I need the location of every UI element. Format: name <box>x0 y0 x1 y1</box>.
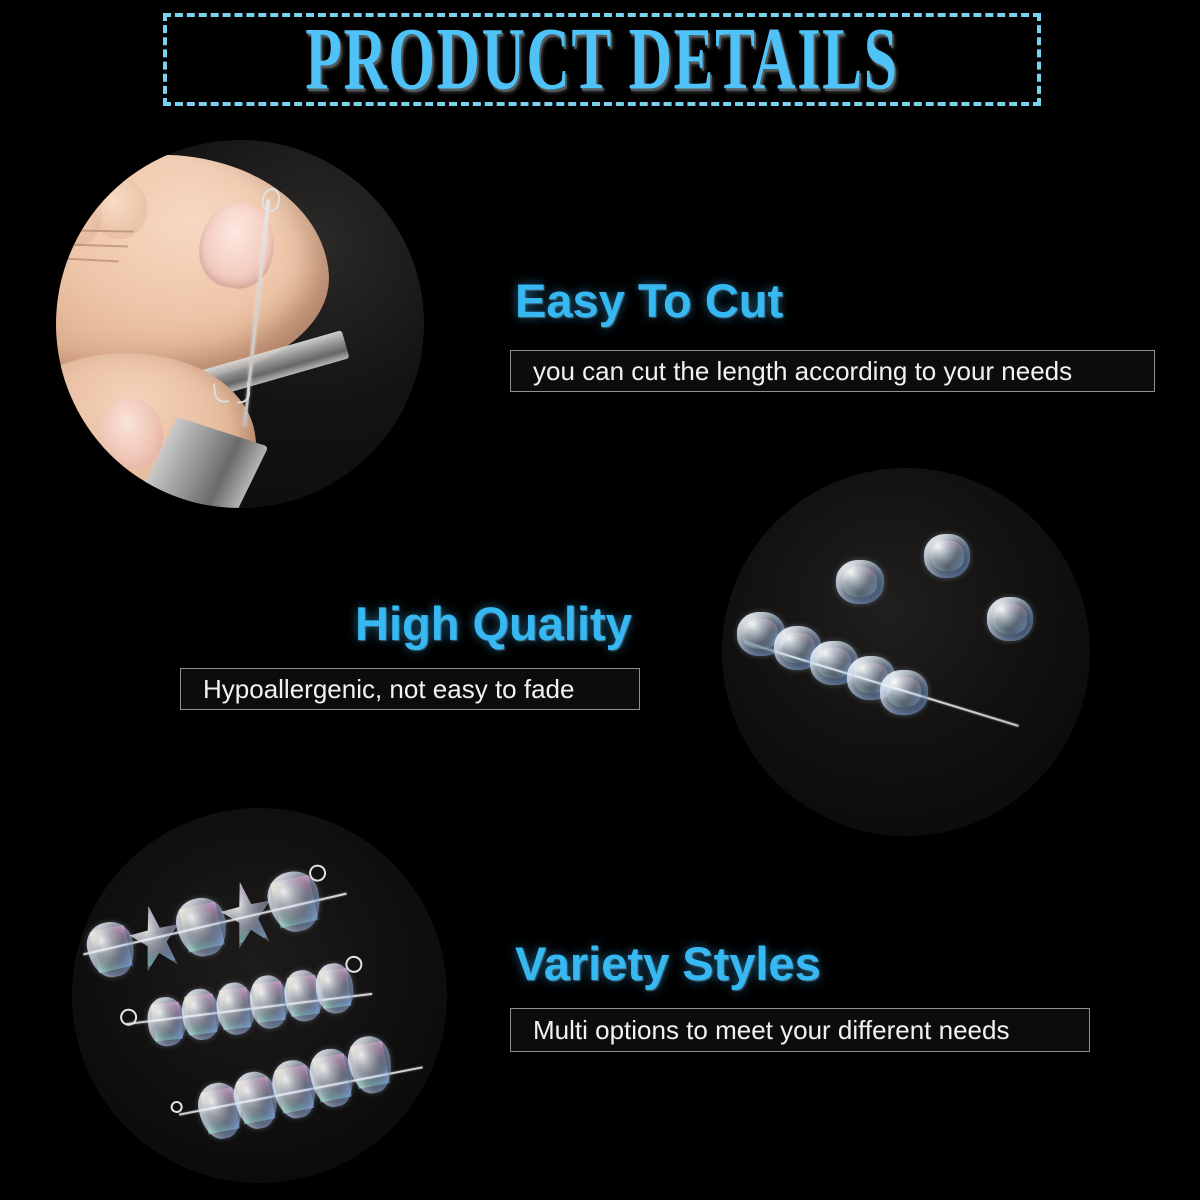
feature-caption-box-variety-styles: Multi options to meet your different nee… <box>510 1008 1090 1052</box>
feature-caption-text: Hypoallergenic, not easy to fade <box>203 676 574 702</box>
feature-caption-text: you can cut the length according to your… <box>533 358 1072 384</box>
bead-strand-rondelle <box>122 962 375 1055</box>
feature-caption-text: Multi options to meet your different nee… <box>533 1017 1009 1043</box>
page-title: PRODUCT DETAILS <box>305 15 899 104</box>
crystal-bead <box>987 597 1033 641</box>
product-details-infographic: PRODUCT DETAILS Easy To Cut yo <box>0 0 1200 1200</box>
feature-image-variety-styles <box>72 808 447 1183</box>
feature-image-easy-to-cut <box>56 140 424 508</box>
feature-heading-easy-to-cut: Easy To Cut <box>515 277 783 324</box>
rondelle-bead <box>179 987 222 1042</box>
crystal-bead <box>924 534 970 578</box>
crystal-bead <box>836 560 884 604</box>
heart-bead <box>82 917 139 981</box>
rondelle-bead <box>213 980 256 1036</box>
feature-heading-variety-styles: Variety Styles <box>515 940 821 987</box>
wire-ring <box>119 1007 138 1026</box>
feature-image-high-quality <box>722 468 1090 836</box>
crystal-bead <box>880 670 928 714</box>
rondelle-bead <box>145 995 188 1048</box>
title-banner: PRODUCT DETAILS <box>163 13 1041 106</box>
feature-heading-high-quality: High Quality <box>355 600 632 647</box>
wire-ring <box>169 1100 183 1114</box>
feature-caption-box-easy-to-cut: you can cut the length according to your… <box>510 350 1155 392</box>
feature-caption-box-high-quality: Hypoallergenic, not easy to fade <box>180 668 640 710</box>
hook-graphic <box>235 382 251 403</box>
skin-crease <box>56 254 119 262</box>
rondelle-bead <box>247 973 290 1029</box>
photo-content <box>56 140 424 508</box>
photo-content <box>722 468 1090 836</box>
photo-content <box>72 808 447 1183</box>
bead-strand-heart <box>172 1033 429 1150</box>
heart-bead <box>171 893 232 961</box>
